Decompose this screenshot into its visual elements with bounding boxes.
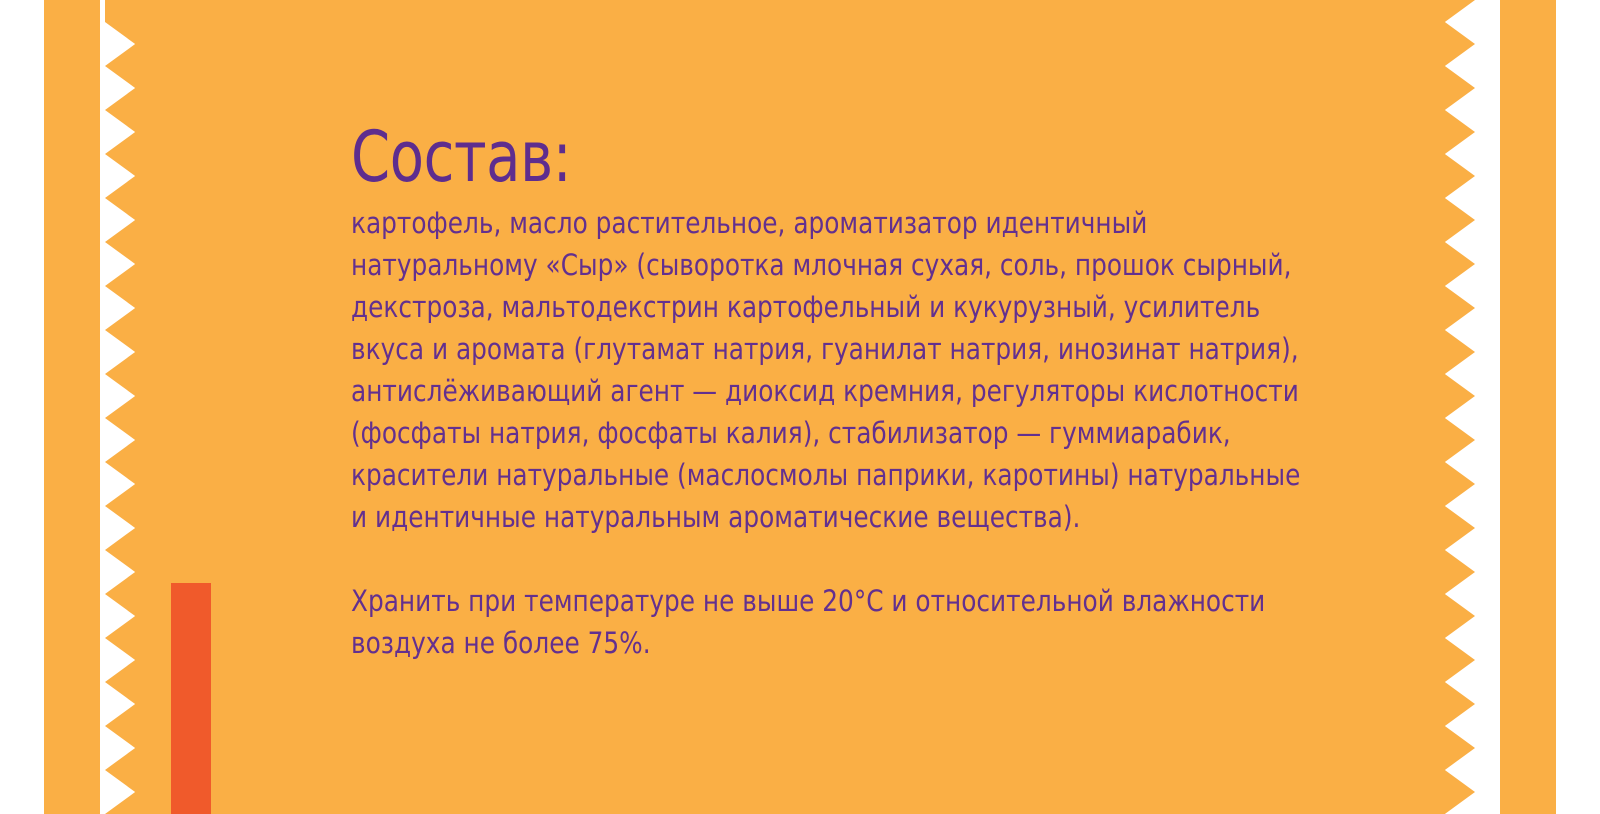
ingredients-line: антислёживающий агент — диоксид кремния,… [351, 370, 1411, 412]
packet-label-slide: Состав: картофель, масло растительное, а… [0, 0, 1600, 814]
ingredients-line: и идентичные натуральным ароматические в… [351, 496, 1411, 538]
ingredients-line: вкуса и аромата (глутамат натрия, гуанил… [351, 328, 1411, 370]
left-edge-strip [44, 0, 100, 814]
ingredients-line: красители натуральные (маслосмолы паприк… [351, 454, 1411, 496]
ingredients-line: декстроза, мальтодекстрин картофельный и… [351, 286, 1411, 328]
accent-bar [171, 583, 211, 814]
right-edge-strip [1500, 0, 1556, 814]
ingredients-line: натуральному «Сыр» (сыворотка млочная су… [351, 244, 1411, 286]
label-content: Состав: картофель, масло растительное, а… [351, 118, 1411, 664]
ingredients-line: (фосфаты натрия, фосфаты калия), стабили… [351, 412, 1411, 454]
ingredients-paragraph: картофель, масло растительное, ароматиза… [351, 202, 1411, 538]
ingredients-line: картофель, масло растительное, ароматиза… [351, 202, 1411, 244]
storage-paragraph: Хранить при температуре не выше 20°C и о… [351, 580, 1411, 664]
page-title: Состав: [351, 118, 1199, 196]
packet-panel: Состав: картофель, масло растительное, а… [105, 0, 1475, 814]
storage-line: воздуха не более 75%. [351, 622, 1411, 664]
storage-line: Хранить при температуре не выше 20°C и о… [351, 580, 1411, 622]
